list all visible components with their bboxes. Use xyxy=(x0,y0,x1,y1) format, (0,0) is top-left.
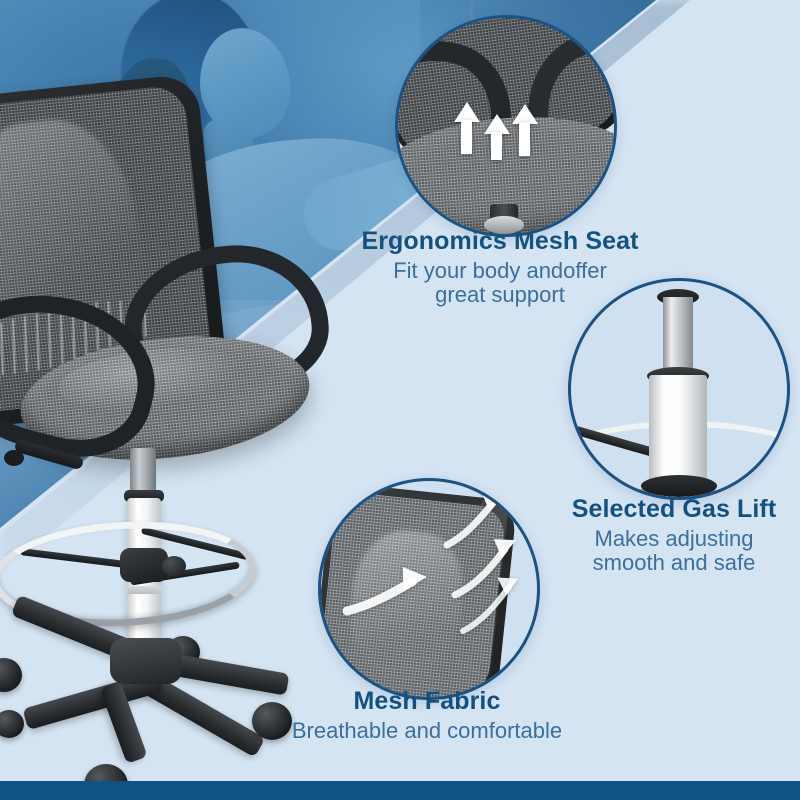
feature-subtitle-line: Breathable and comfortable xyxy=(212,719,642,743)
feature-title: Selected Gas Lift xyxy=(548,496,800,523)
footring-adjust-knob xyxy=(162,556,186,576)
callout-mesh-fabric[interactable] xyxy=(318,478,540,700)
caption-ergonomics-mesh-seat: Ergonomics Mesh Seat Fit your body andof… xyxy=(300,228,700,307)
feature-subtitle-line: smooth and safe xyxy=(548,551,800,575)
airflow-curve-arrow xyxy=(459,567,540,641)
airflow-curve-arrow xyxy=(341,553,451,623)
airflow-arrow-stem xyxy=(491,132,502,160)
feature-subtitle: Breathable and comfortable xyxy=(212,719,642,743)
callout-selected-gas-lift[interactable] xyxy=(568,278,790,500)
feature-subtitle-line: Makes adjusting xyxy=(548,527,800,551)
feature-subtitle-line: Fit your body andoffer xyxy=(300,259,700,283)
feature-subtitle-line: great support xyxy=(300,283,700,307)
feature-subtitle: Fit your body andoffer great support xyxy=(300,259,700,307)
gas-lift-cylinder-icon xyxy=(571,281,787,497)
footring-hub xyxy=(120,548,168,582)
bottom-brand-bar xyxy=(0,781,800,800)
base-hub xyxy=(110,638,182,684)
mesh-backrest-airflow-icon xyxy=(321,481,537,697)
airflow-arrow-stem xyxy=(519,122,530,156)
caption-selected-gas-lift: Selected Gas Lift Makes adjusting smooth… xyxy=(548,496,800,575)
product-chair xyxy=(0,70,340,760)
feature-title: Ergonomics Mesh Seat xyxy=(300,228,700,255)
seat-airflow-arrows-icon xyxy=(398,18,614,234)
callout-ergonomics-mesh-seat[interactable] xyxy=(395,15,617,237)
airflow-arrow-head xyxy=(512,104,538,124)
feature-subtitle: Makes adjusting smooth and safe xyxy=(548,527,800,575)
caption-mesh-fabric: Mesh Fabric Breathable and comfortable xyxy=(212,688,642,743)
airflow-arrow-head xyxy=(454,102,480,122)
caster-wheel xyxy=(0,710,24,738)
closeup-cylinder-foot xyxy=(641,475,717,497)
gas-lift-piston xyxy=(130,448,156,496)
airflow-arrow-head xyxy=(484,114,510,134)
caster-wheel xyxy=(0,658,22,692)
airflow-arrow-stem xyxy=(461,120,472,154)
feature-title: Mesh Fabric xyxy=(212,688,642,715)
infographic-canvas: Ergonomics Mesh Seat Fit your body andof… xyxy=(0,0,800,800)
lever-knob xyxy=(4,450,24,466)
